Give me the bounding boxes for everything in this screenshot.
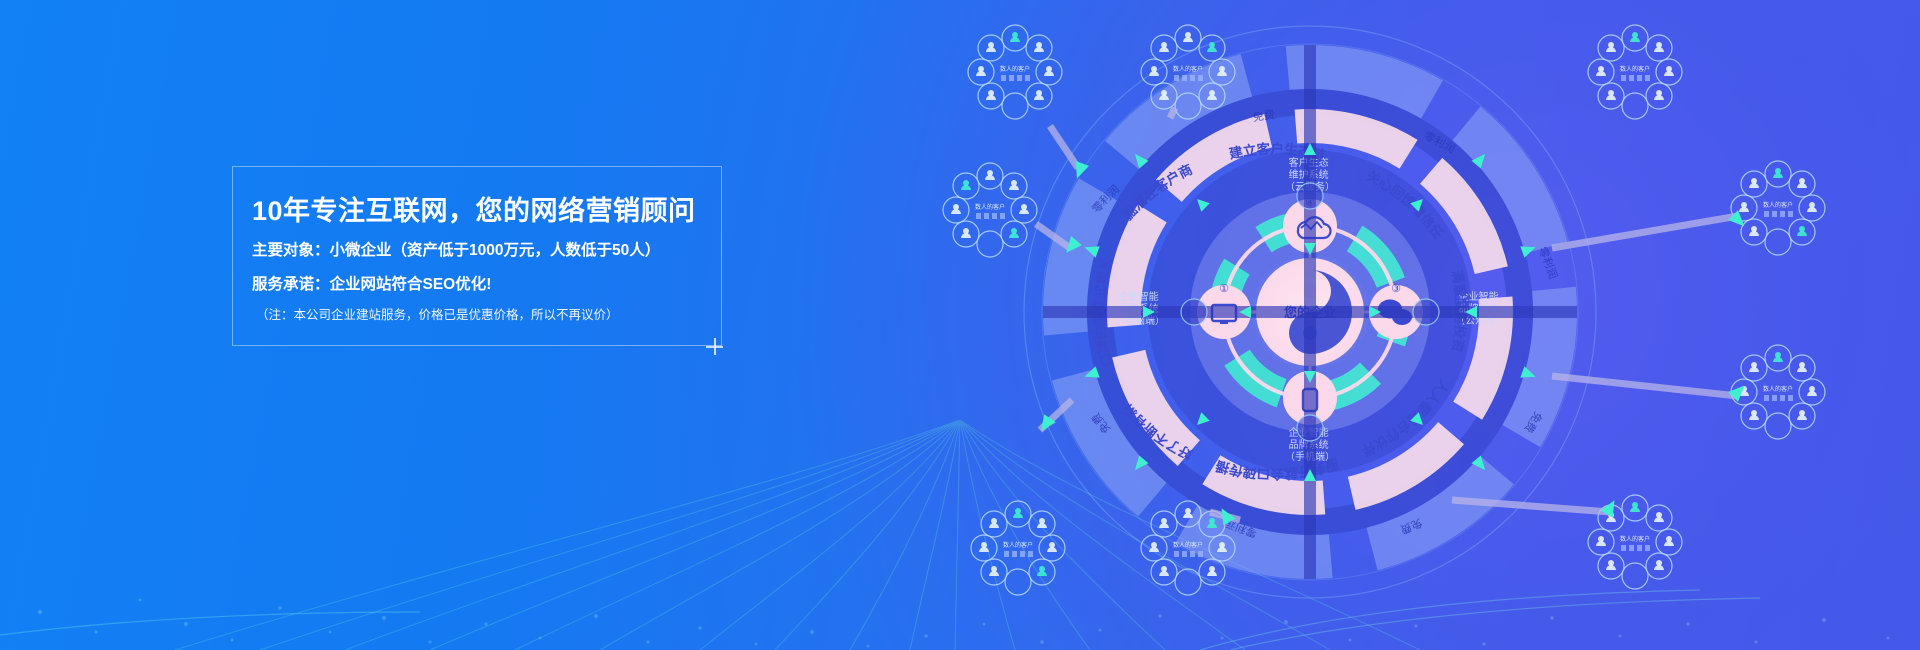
satellite-label: 数人的客户 — [1763, 385, 1793, 393]
satellite-cluster[interactable]: 数人的客户 — [943, 163, 1037, 257]
ecosystem-diagram: 您的企业 ① ② — [840, 0, 1920, 650]
satellite-label: 数人的客户 — [1763, 201, 1793, 209]
satellite-cluster[interactable]: 数人的客户 — [971, 501, 1065, 595]
satellite-label: 数人的客户 — [1620, 535, 1650, 543]
satellite-cluster[interactable]: 数人的客户 — [968, 25, 1062, 119]
ecosystem-diagram-svg: 您的企业 ① ② — [840, 0, 1920, 650]
satellite-label: 数人的客户 — [975, 203, 1005, 211]
satellite-label: 数人的客户 — [1620, 65, 1650, 73]
satellite-label: 数人的客户 — [1173, 541, 1203, 549]
price-note: （注：本公司企业建站服务，价格已是优惠价格，所以不再议价） — [256, 304, 619, 323]
banner-root: 10年专注互联网，您的网络营销顾问 主要对象：小微企业（资产低于1000万元，人… — [0, 0, 1920, 650]
satellite-label: 数人的客户 — [1000, 65, 1030, 73]
satellite-cluster[interactable]: 数人的客户 — [1588, 25, 1682, 119]
satellite-cluster[interactable]: 数人的客户 — [1731, 345, 1825, 439]
satellite-label: 数人的客户 — [1173, 65, 1203, 73]
satellite-label: 数人的客户 — [1003, 541, 1033, 549]
satellite-cluster[interactable]: 数人的客户 — [1731, 161, 1825, 255]
node-number-1: ① — [1219, 283, 1229, 295]
target-audience-line: 主要对象：小微企业（资产低于1000万元，人数低于50人） — [252, 238, 660, 260]
service-promise-line: 服务承诺：企业网站符合SEO优化! — [252, 272, 491, 294]
node-number-3: ③ — [1391, 283, 1401, 295]
page-title: 10年专注互联网，您的网络营销顾问 — [252, 189, 722, 228]
